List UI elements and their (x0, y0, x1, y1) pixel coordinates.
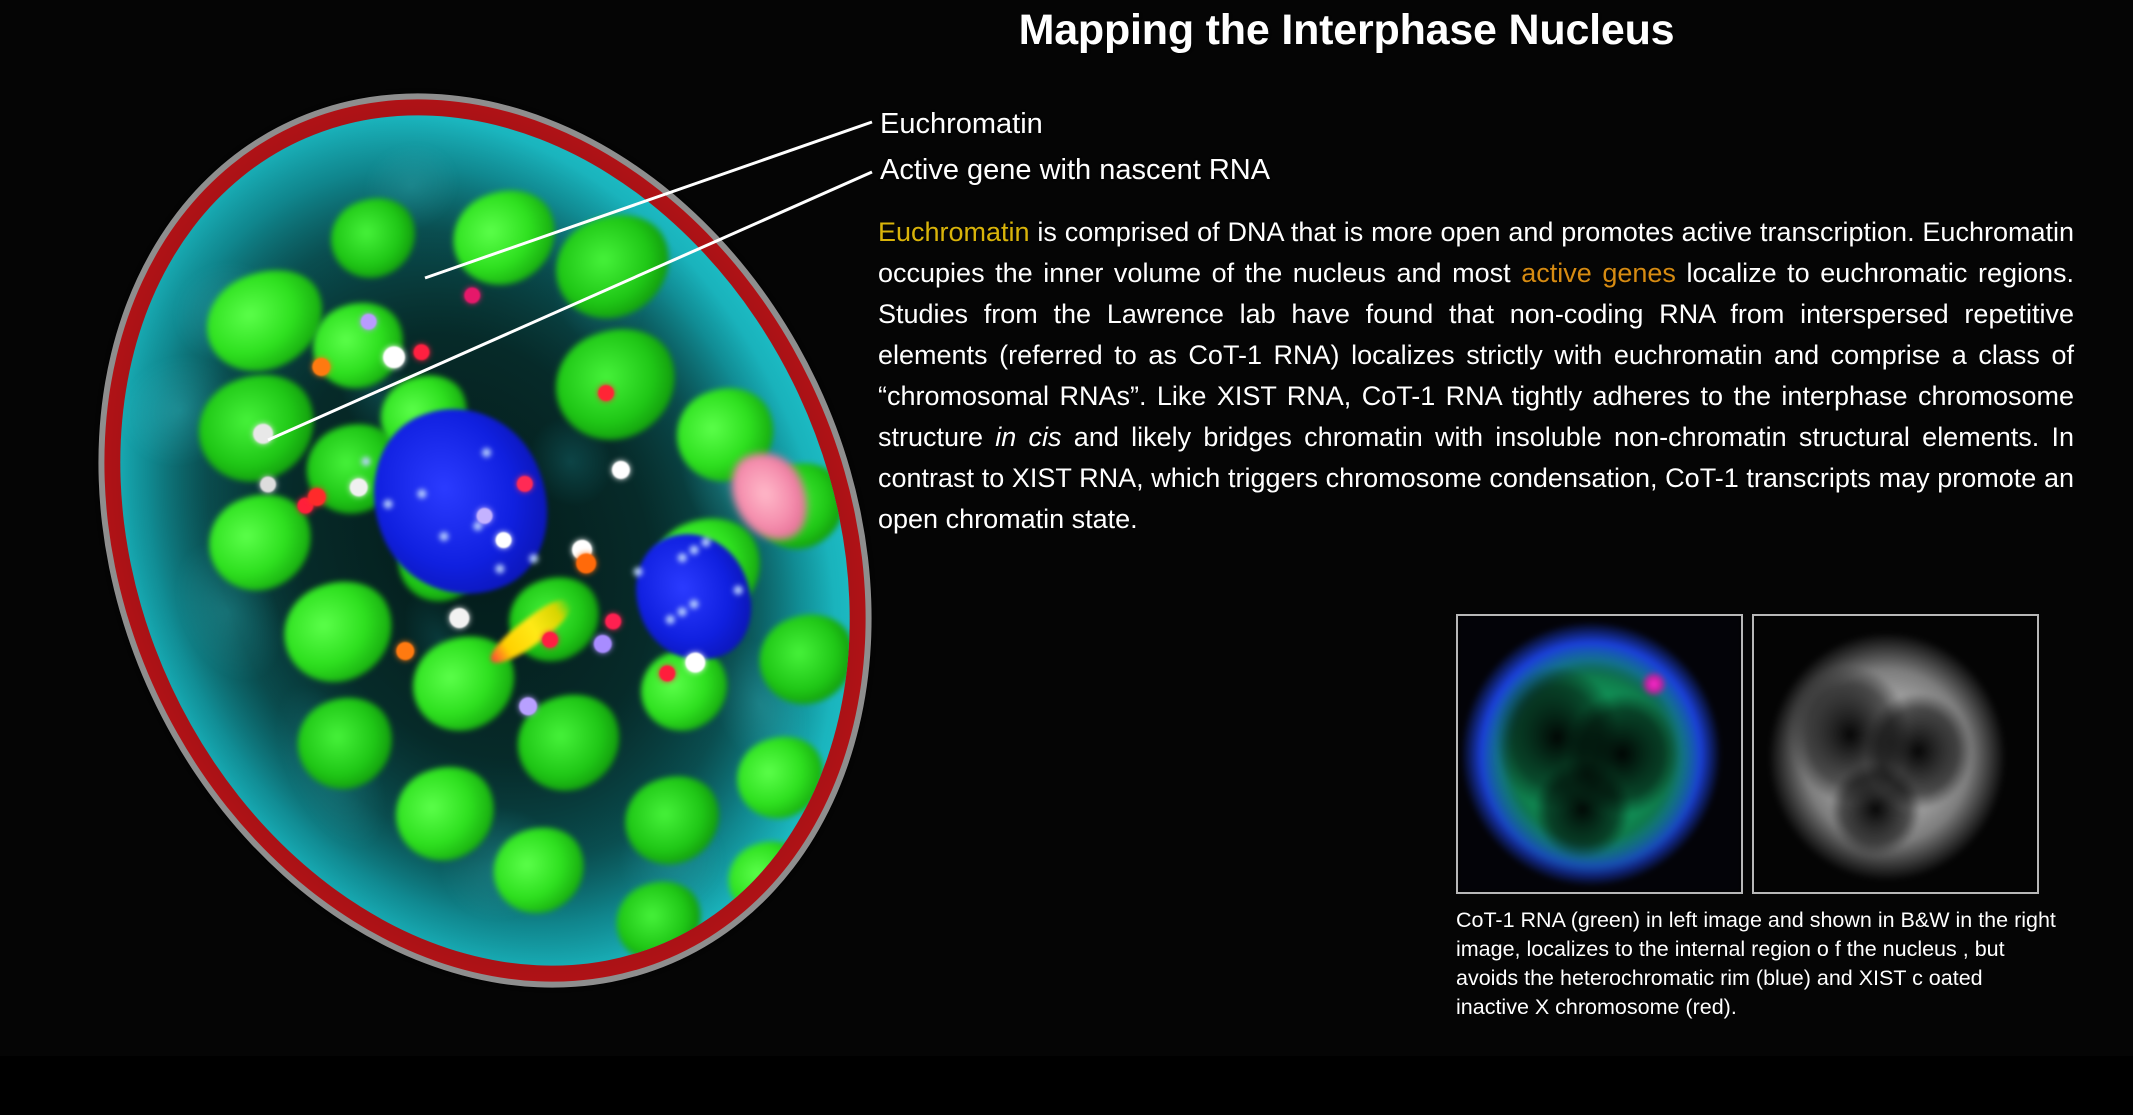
cot1-bw-image (1754, 616, 2037, 892)
nucleolus-speckle (481, 447, 493, 459)
nucleolus-speckle (664, 614, 676, 626)
description-paragraph: Euchromatin is comprised of DNA that is … (878, 212, 2074, 540)
active-genes-highlight: active genes (1521, 258, 1676, 288)
inset-cot1-bw-panel (1752, 614, 2039, 894)
page-title-text: Mapping the Interphase Nucleus (459, 6, 1675, 54)
nucleolus-speckle (688, 598, 700, 610)
nucleolus-speckle (688, 544, 700, 556)
interphase-nucleus-micrograph (95, 68, 875, 1013)
callout-label-active-gene: Active gene with nascent RNA (880, 154, 1270, 187)
inset-cot1-color-panel (1456, 614, 1743, 894)
page-title: Mapping the Interphase Nucleus (0, 6, 2133, 55)
cot1-color-image (1458, 616, 1741, 892)
in-cis-italic: in cis (995, 422, 1061, 452)
nucleus-interior (0, 0, 985, 1086)
nucleolus-speckle (416, 488, 428, 500)
nucleolus-speckle (676, 552, 688, 564)
nucleolus-speckle (382, 498, 394, 510)
nucleolus-speckle (438, 530, 450, 542)
callout-label-euchromatin: Euchromatin (880, 108, 1043, 141)
nucleolus-speckle (700, 536, 712, 548)
nucleolus-speckle (676, 606, 688, 618)
nucleolus-speckle (494, 563, 506, 575)
nucleus-red-rim (0, 0, 1006, 1107)
inset-caption: CoT-1 RNA (green) in left image and show… (1456, 906, 2056, 1022)
nucleus-outer-rim (0, 0, 1014, 1115)
euchromatin-highlight: Euchromatin (878, 217, 1030, 247)
nucleolus-speckle (732, 584, 744, 596)
